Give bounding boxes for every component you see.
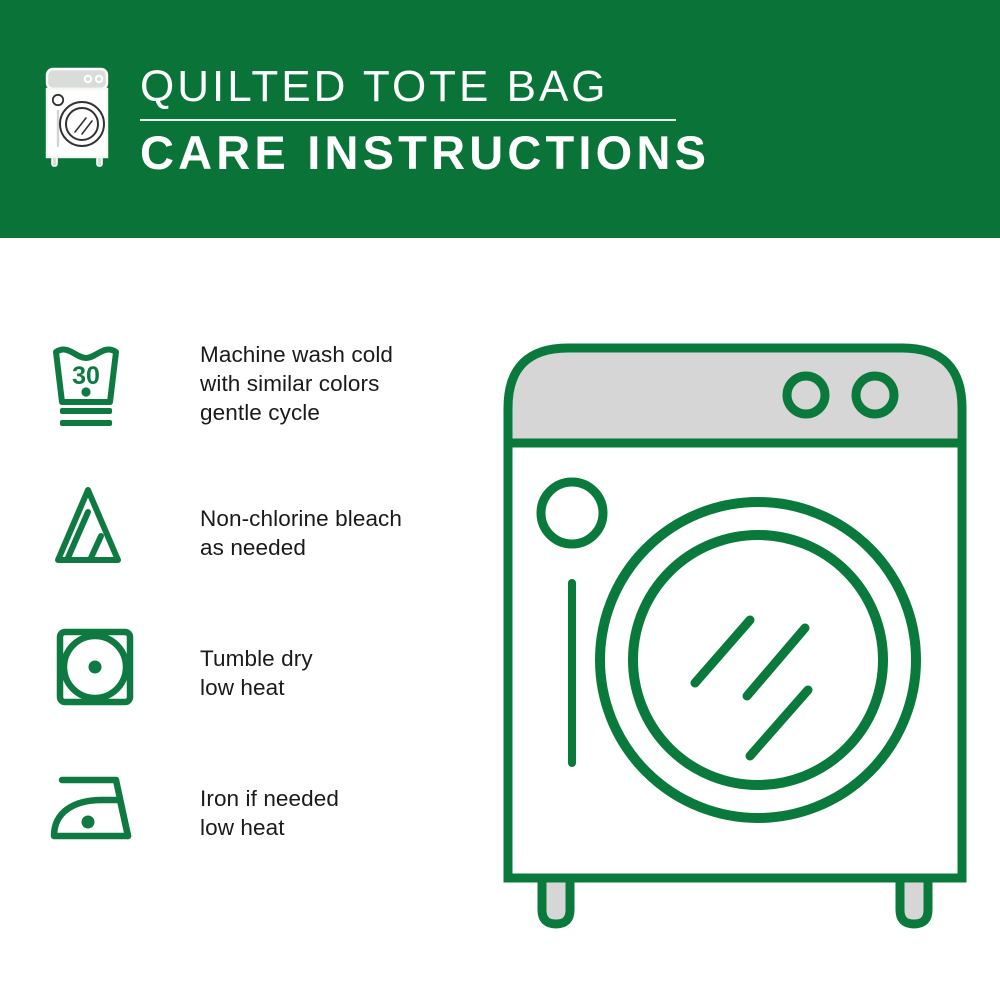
- care-item-tumble-dry: Tumble dry low heat: [50, 618, 470, 758]
- care-text-line: Non-chlorine bleach: [200, 504, 402, 533]
- care-item-tumble-dry-text: Tumble dry low heat: [200, 618, 313, 702]
- care-instruction-list: 30 Machine wash cold with similar colors…: [50, 338, 470, 898]
- care-item-wash-text: Machine wash cold with similar colors ge…: [200, 338, 393, 427]
- machine-foot-left: [542, 878, 570, 924]
- care-item-wash: 30 Machine wash cold with similar colors…: [50, 338, 470, 478]
- care-item-bleach-text: Non-chlorine bleach as needed: [200, 478, 402, 562]
- care-text-line: Tumble dry: [200, 644, 313, 673]
- wash-symbol-wrapper: 30: [50, 338, 162, 442]
- care-text-line: low heat: [200, 813, 339, 842]
- tumble-dry-symbol-wrapper: [50, 618, 162, 722]
- gentle-bar-2: [60, 420, 112, 426]
- header-title-block: QUILTED TOTE BAG CARE INSTRUCTIONS: [140, 62, 710, 179]
- iron-dot: [82, 816, 95, 829]
- care-text-line: gentle cycle: [200, 398, 393, 427]
- page-title: QUILTED TOTE BAG: [140, 62, 609, 112]
- wash-dot: [81, 387, 90, 396]
- care-instructions-page: QUILTED TOTE BAG CARE INSTRUCTIONS 30: [0, 0, 1000, 1000]
- care-text-line: as needed: [200, 533, 402, 562]
- care-text-line: Iron if needed: [200, 784, 339, 813]
- iron-icon: [50, 762, 150, 858]
- care-text-line: Machine wash cold: [200, 340, 393, 369]
- care-item-iron: Iron if needed low heat: [50, 758, 470, 898]
- header-banner: QUILTED TOTE BAG CARE INSTRUCTIONS: [0, 0, 1000, 238]
- bleach-symbol-wrapper: [50, 478, 162, 582]
- content-area: 30 Machine wash cold with similar colors…: [0, 238, 1000, 1000]
- gentle-bar-1: [60, 408, 112, 414]
- machine-foot-right: [900, 878, 928, 924]
- care-item-iron-text: Iron if needed low heat: [200, 758, 339, 842]
- title-divider: [140, 119, 676, 121]
- tumble-dry-icon: [50, 622, 150, 718]
- washing-machine-illustration: [500, 338, 970, 938]
- iron-symbol-wrapper: [50, 758, 162, 862]
- wash-tub-icon: 30: [50, 342, 150, 438]
- care-text-line: low heat: [200, 673, 313, 702]
- wash-temperature-label: 30: [72, 362, 100, 390]
- care-item-bleach: Non-chlorine bleach as needed: [50, 478, 470, 618]
- header-content: QUILTED TOTE BAG CARE INSTRUCTIONS: [44, 62, 710, 179]
- care-text-line: with similar colors: [200, 369, 393, 398]
- washing-machine-icon: [44, 66, 110, 170]
- page-subtitle: CARE INSTRUCTIONS: [140, 127, 710, 179]
- bleach-stripe-2: [90, 536, 101, 560]
- tumble-dry-dot: [89, 661, 102, 674]
- bleach-triangle-icon: [50, 482, 150, 578]
